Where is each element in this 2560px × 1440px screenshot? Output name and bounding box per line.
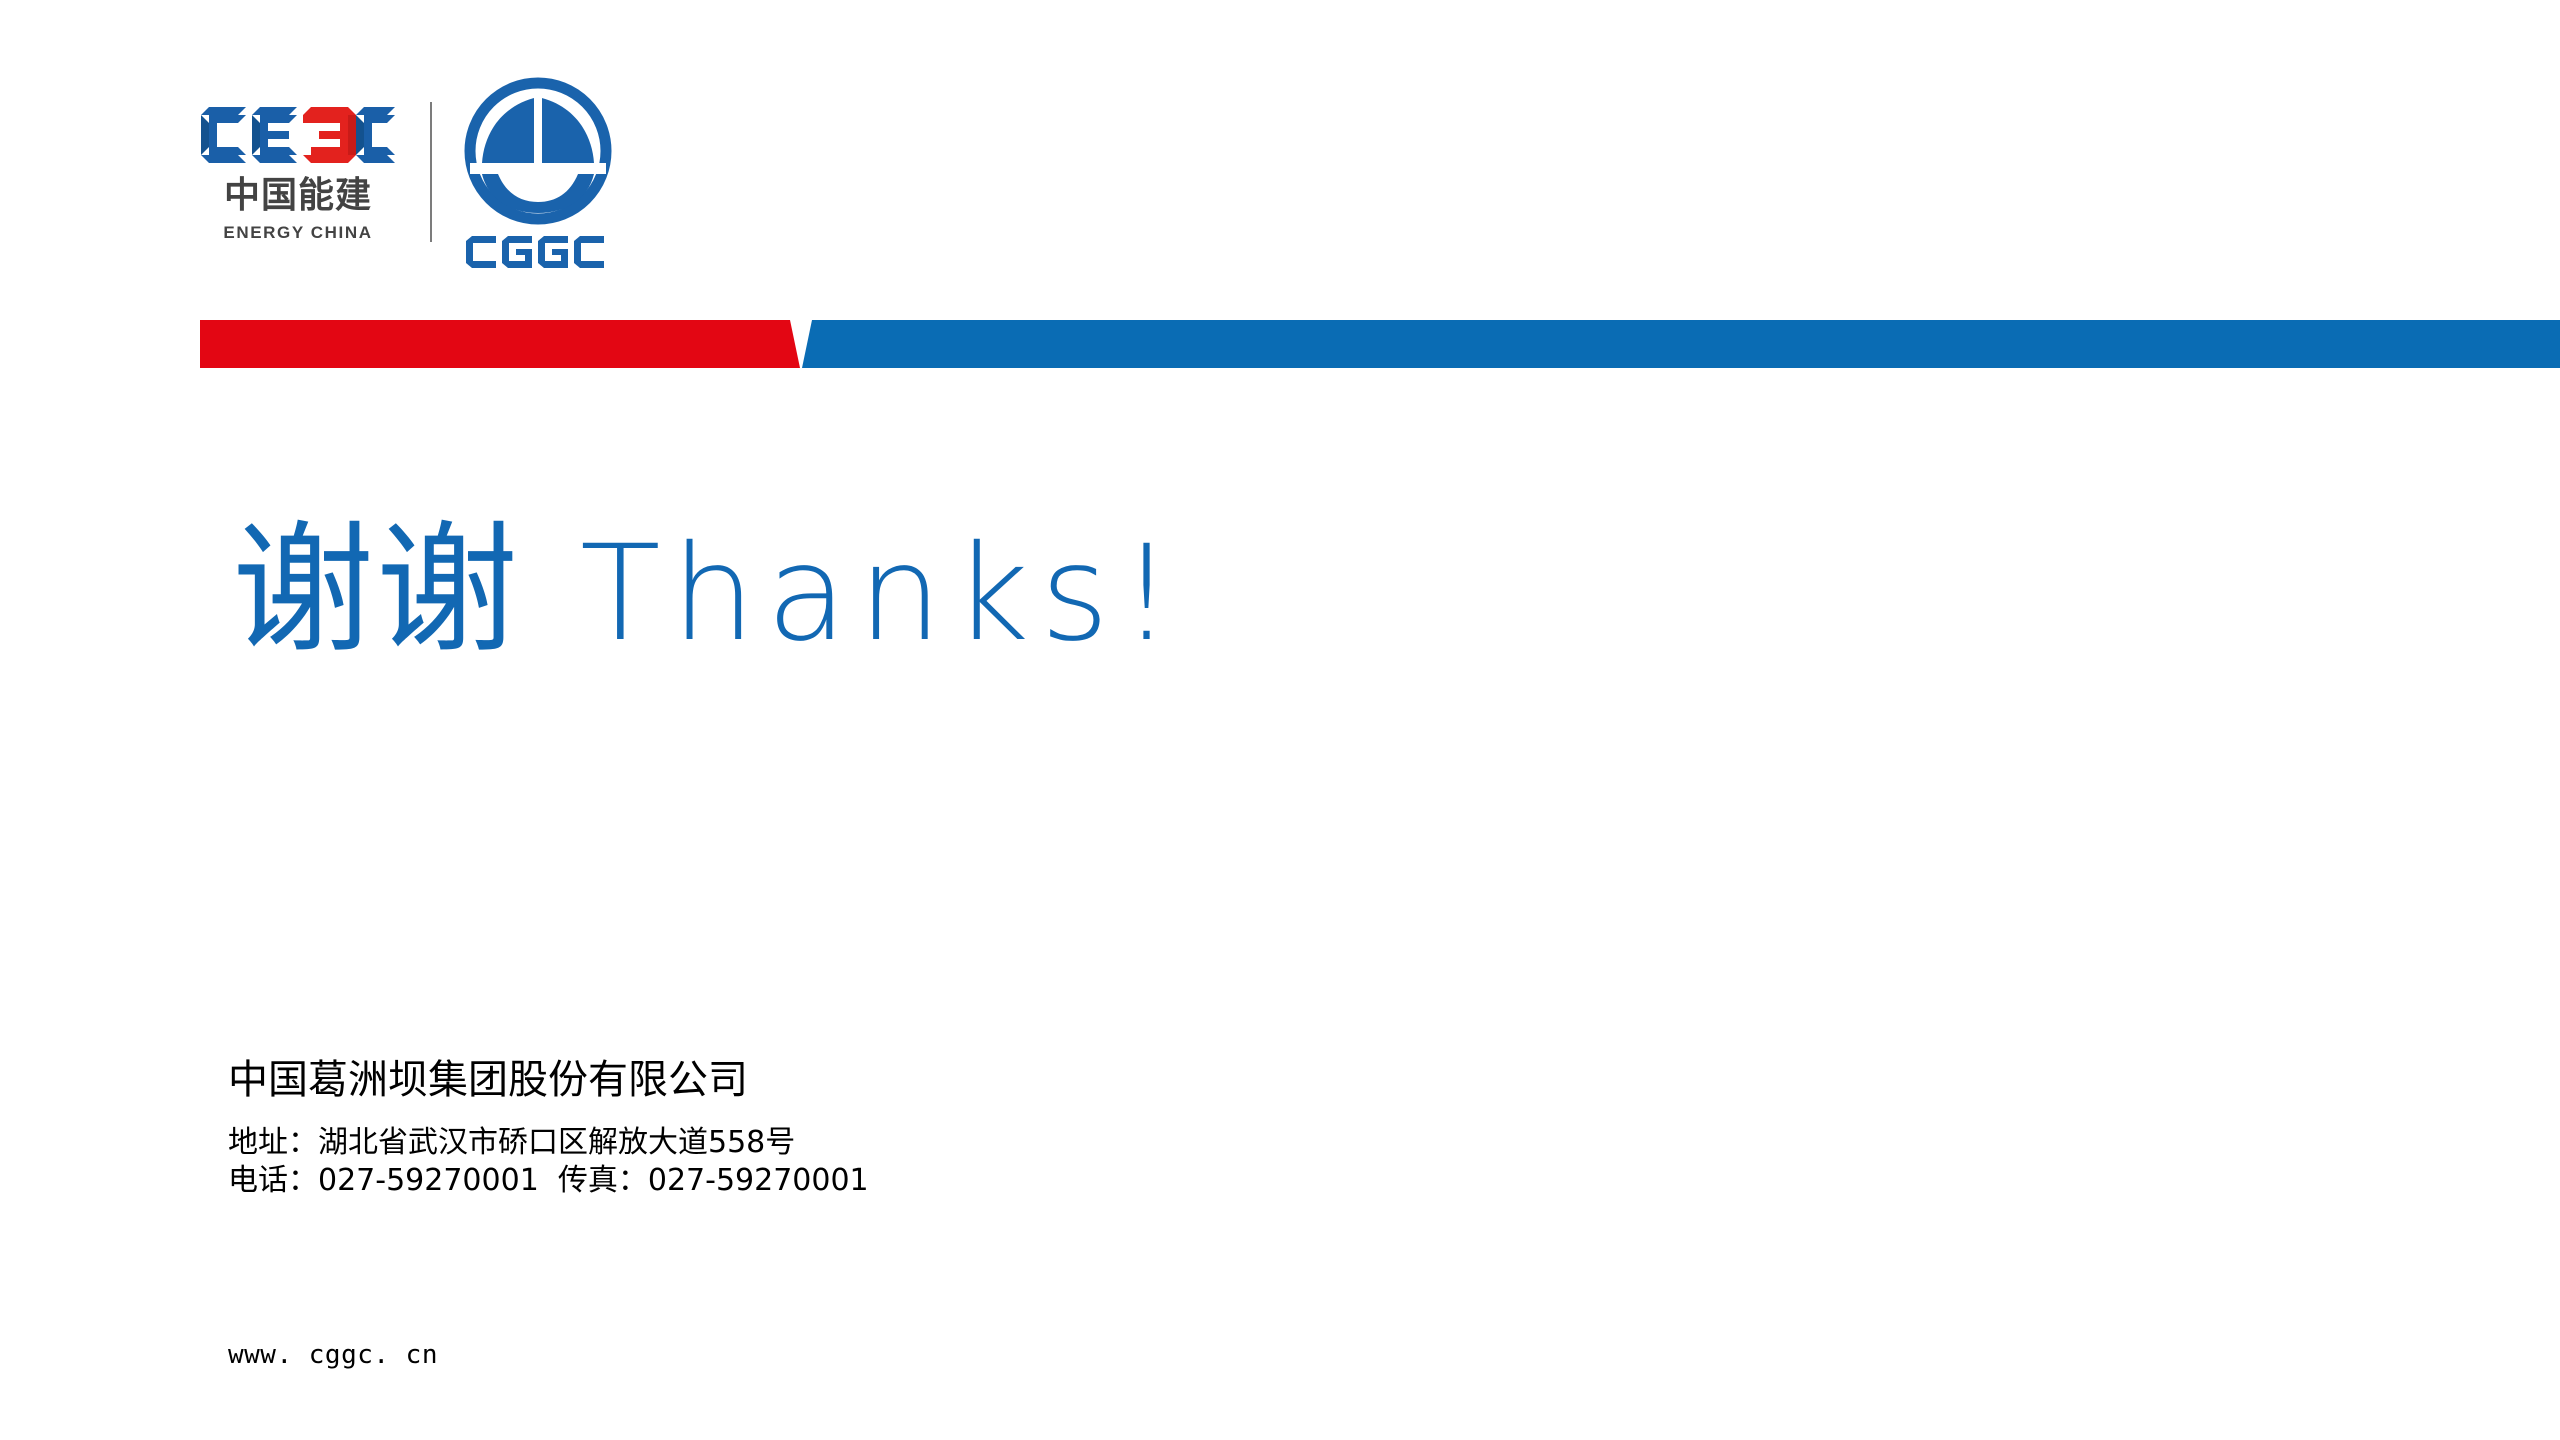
ceec-wordmark-icon bbox=[198, 104, 398, 166]
ceec-chinese-name: 中国能建 bbox=[224, 178, 372, 214]
title-chinese: 谢谢 bbox=[232, 520, 520, 662]
slide-canvas: 中国能建 ENERGY CHINA bbox=[0, 0, 2560, 1440]
divider-bar-red-segment bbox=[200, 320, 800, 368]
divider-bar-blue-segment bbox=[802, 320, 2560, 368]
cggc-logo-group bbox=[462, 75, 614, 269]
divider-bar bbox=[0, 320, 2560, 368]
logo-vertical-divider bbox=[430, 102, 432, 242]
contact-phone-fax: 电话：027-59270001 传真：027-59270001 bbox=[228, 1162, 869, 1200]
cggc-dam-emblem-icon bbox=[462, 75, 614, 227]
ceec-logo-group: 中国能建 ENERGY CHINA bbox=[198, 104, 398, 241]
ceec-english-name: ENERGY CHINA bbox=[223, 224, 372, 241]
website-url[interactable]: www. cggc. cn bbox=[228, 1340, 438, 1370]
contact-block: 中国葛洲坝集团股份有限公司 地址：湖北省武汉市硚口区解放大道558号 电话：02… bbox=[228, 1058, 869, 1201]
main-title: 谢谢 Thanks! bbox=[232, 520, 1184, 662]
logo-lockup: 中国能建 ENERGY CHINA bbox=[198, 72, 614, 272]
contact-detail-lines: 地址：湖北省武汉市硚口区解放大道558号 电话：027-59270001 传真：… bbox=[228, 1124, 869, 1201]
title-english: Thanks! bbox=[580, 528, 1184, 660]
cggc-wordmark-icon bbox=[464, 235, 612, 269]
company-name: 中国葛洲坝集团股份有限公司 bbox=[228, 1058, 869, 1102]
contact-address: 地址：湖北省武汉市硚口区解放大道558号 bbox=[228, 1124, 869, 1162]
